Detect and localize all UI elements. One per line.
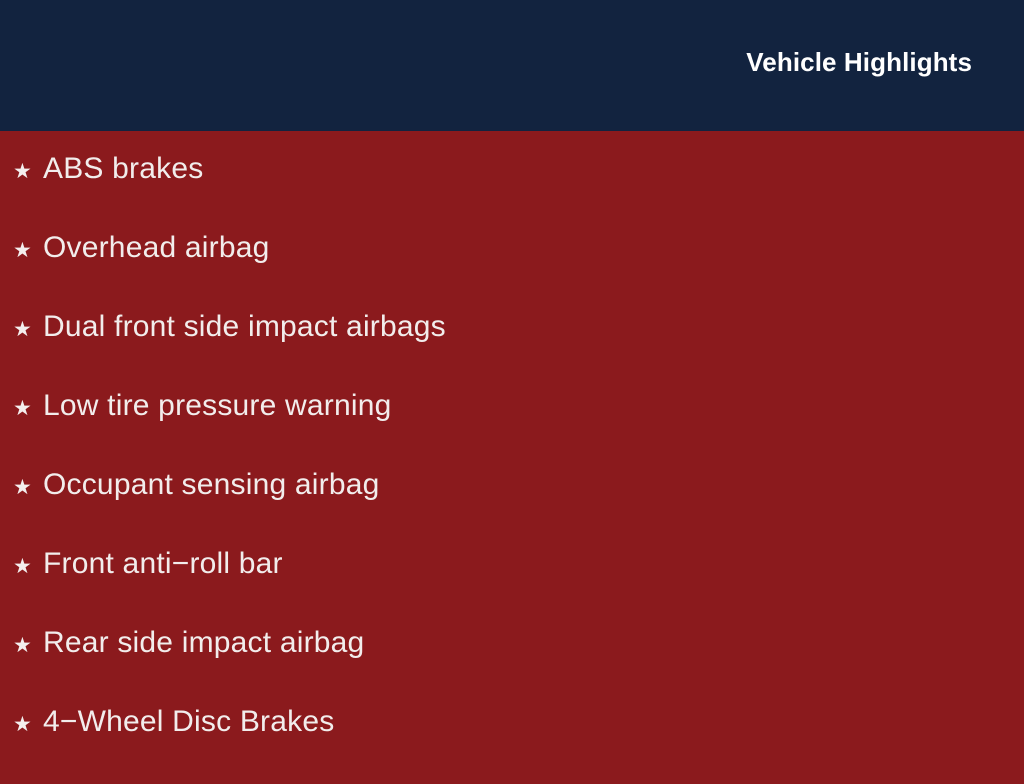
list-item: ★ Front anti−roll bar — [0, 547, 1024, 626]
star-icon: ★ — [13, 552, 43, 582]
vehicle-highlights-slide: Vehicle Highlights ★ ABS brakes ★ Overhe… — [0, 0, 1024, 768]
star-icon: ★ — [13, 631, 43, 661]
star-icon: ★ — [13, 394, 43, 424]
slide-header: Vehicle Highlights — [0, 0, 1024, 131]
star-icon: ★ — [13, 236, 43, 266]
highlight-label: Dual front side impact airbags — [43, 310, 446, 344]
list-item: ★ Low tire pressure warning — [0, 389, 1024, 468]
list-item: ★ Rear side impact airbag — [0, 626, 1024, 705]
list-item: ★ Occupant sensing airbag — [0, 468, 1024, 547]
highlight-label: Occupant sensing airbag — [43, 468, 379, 502]
star-icon: ★ — [13, 157, 43, 187]
list-item: ★ Overhead airbag — [0, 231, 1024, 310]
vehicle-highlights-list: ★ ABS brakes ★ Overhead airbag ★ Dual fr… — [0, 131, 1024, 768]
highlight-label: Rear side impact airbag — [43, 626, 364, 660]
star-icon: ★ — [13, 710, 43, 740]
highlight-label: 4−Wheel Disc Brakes — [43, 705, 334, 739]
highlight-label: Front anti−roll bar — [43, 547, 283, 581]
page-title: Vehicle Highlights — [746, 45, 972, 79]
highlight-label: ABS brakes — [43, 152, 203, 186]
list-item: ★ Dual front side impact airbags — [0, 310, 1024, 389]
list-item: ★ 4−Wheel Disc Brakes — [0, 705, 1024, 784]
highlight-label: Overhead airbag — [43, 231, 269, 265]
star-icon: ★ — [13, 473, 43, 503]
highlight-label: Low tire pressure warning — [43, 389, 392, 423]
star-icon: ★ — [13, 315, 43, 345]
list-item: ★ ABS brakes — [0, 152, 1024, 231]
